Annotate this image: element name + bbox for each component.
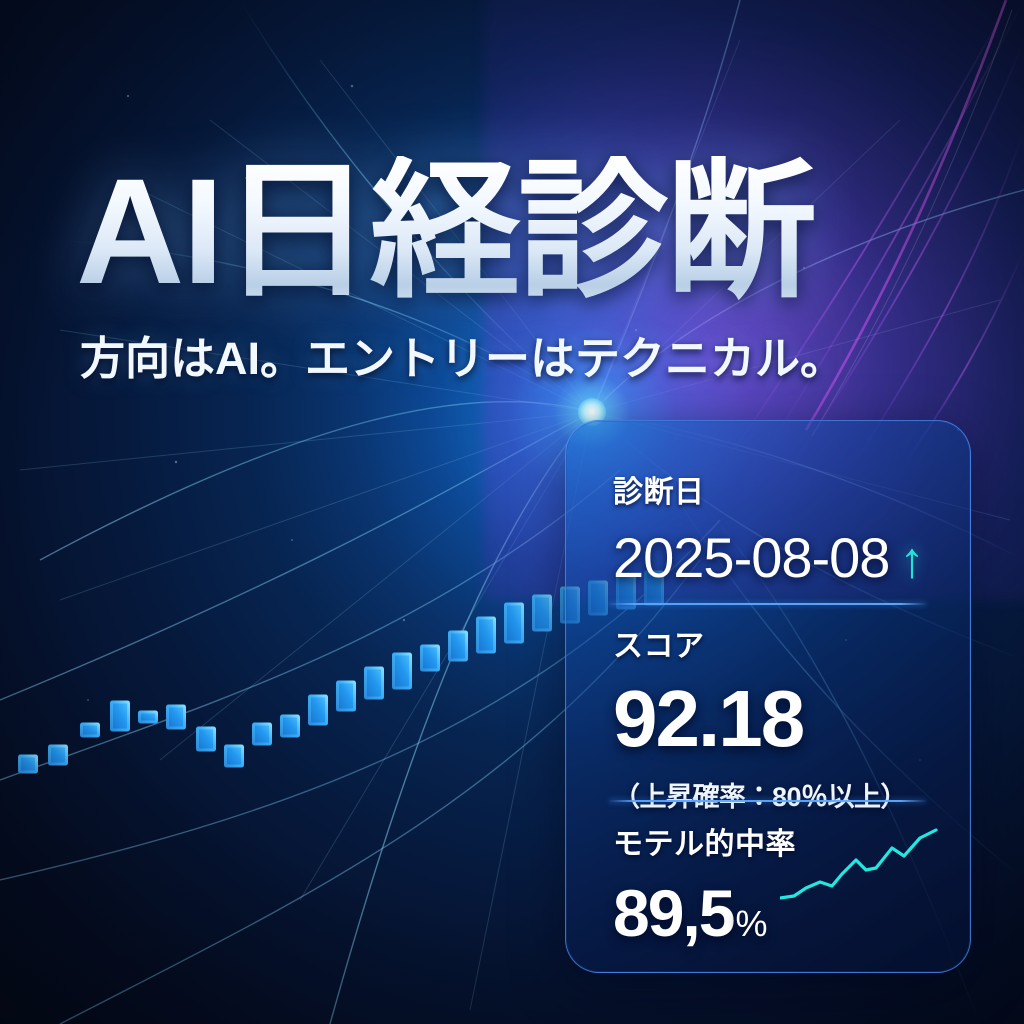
- page-subtitle: 方向はAI。エントリーはテクニカル。: [80, 336, 845, 381]
- diagnosis-card: 診断日 2025-08-08 ↑ スコア 92.18 （上昇確率：80％以上） …: [565, 420, 971, 973]
- page-title: AI日経診断: [76, 156, 956, 306]
- arrow-up-icon: ↑: [899, 535, 923, 585]
- diagnosis-date-value-wrap: 2025-08-08 ↑: [613, 525, 932, 590]
- card-divider-1: [609, 603, 926, 605]
- accuracy-percent-sign: %: [735, 903, 767, 945]
- score-note: （上昇確率：80％以上）: [613, 775, 932, 814]
- poster-canvas: AI日経診断 方向はAI。エントリーはテクニカル。 診断日 2025-08-08…: [0, 0, 1024, 1024]
- diagnosis-date-row: 診断日 2025-08-08 ↑: [613, 467, 932, 590]
- diagnosis-date-label: 診断日: [613, 467, 932, 511]
- diagnosis-date-value: 2025-08-08: [613, 525, 889, 590]
- score-value: 92.18: [613, 673, 932, 765]
- card-divider-2: [609, 800, 926, 802]
- trend-sparkline-icon: [780, 826, 948, 910]
- score-label: スコア: [613, 621, 932, 665]
- accuracy-value: 89,5: [613, 875, 733, 951]
- score-row: スコア 92.18 （上昇確率：80％以上）: [613, 621, 932, 814]
